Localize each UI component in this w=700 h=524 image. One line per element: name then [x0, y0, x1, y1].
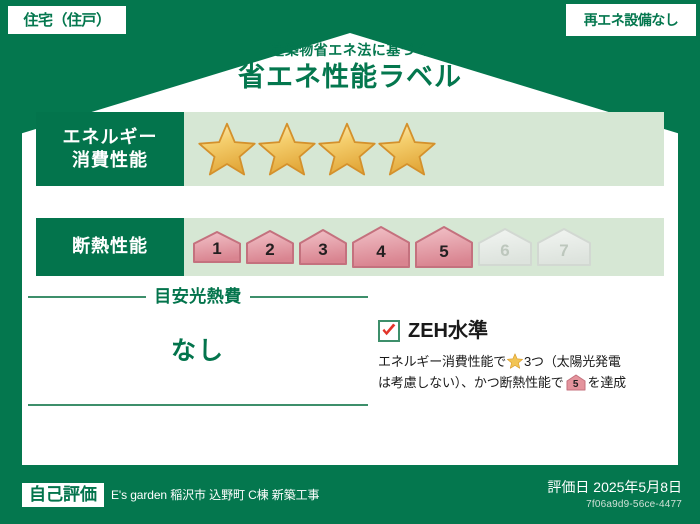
- building-name: E's garden 稲沢市 込野町 C棟 新築工事: [111, 489, 547, 501]
- zeh-desc-part1: エネルギー消費性能で: [378, 354, 506, 369]
- zeh-desc-star-count: 3つ（太陽光発電: [524, 354, 621, 369]
- zeh-title: ZEH水準: [408, 321, 488, 341]
- renewable-equipment-label: 再エネ設備なし: [584, 13, 679, 27]
- insulation-grade-value: 6: [477, 242, 533, 259]
- insulation-grade-badge: 5: [414, 225, 474, 269]
- footer-meta: 評価日 2025年5月8日 7f06a9d9-56ce-4477: [547, 479, 682, 511]
- insulation-grade-badge: 3: [298, 228, 348, 266]
- star-icon: [198, 121, 256, 177]
- zeh-heading-row: ZEH水準: [378, 320, 668, 342]
- inline-star-icon: [507, 353, 523, 369]
- self-evaluation-badge: 自己評価: [22, 483, 104, 507]
- insulation-grade-value: 1: [192, 240, 242, 257]
- header: 建築物省エネ法に基づく 省エネ性能ラベル: [0, 42, 700, 95]
- insulation-grade-scale: 1234567: [184, 218, 664, 276]
- inline-grade-value: 5: [566, 380, 586, 390]
- energy-performance-label: 住宅（住戸） 再エネ設備なし 建築物省エネ法に基づく 省エネ性能ラベル エネルギ…: [0, 0, 700, 524]
- insulation-grade-badge: 1: [192, 230, 242, 264]
- energy-consumption-label-line2: 消費性能: [72, 149, 148, 172]
- energy-consumption-label-line1: エネルギー: [63, 126, 158, 149]
- inline-grade-badge: 5: [566, 374, 586, 391]
- category-tag-label: 住宅（住戸）: [23, 13, 110, 28]
- header-subtitle: 建築物省エネ法に基づく: [0, 42, 700, 59]
- heading-rule-right: [250, 296, 368, 298]
- evaluation-date: 評価日 2025年5月8日: [547, 479, 682, 496]
- utility-cost-section: 目安光熱費 なし: [28, 288, 368, 406]
- zeh-checkbox[interactable]: [378, 320, 400, 342]
- utility-cost-value: なし: [28, 339, 368, 364]
- insulation-grade-value: 2: [245, 241, 295, 258]
- page-title: 省エネ性能ラベル: [0, 61, 700, 95]
- insulation-grade-badge: 6: [477, 227, 533, 267]
- insulation-performance-label: 断熱性能: [36, 218, 184, 276]
- energy-consumption-row: エネルギー 消費性能: [36, 112, 664, 186]
- insulation-grade-value: 5: [414, 243, 474, 260]
- energy-star-rating: [184, 112, 664, 186]
- insulation-performance-row: 断熱性能 1234567: [36, 218, 664, 276]
- evaluation-id: 7f06a9d9-56ce-4477: [547, 498, 682, 511]
- zeh-description: エネルギー消費性能で3つ（太陽光発電は考慮しない）、かつ断熱性能で5を達成: [378, 351, 668, 393]
- renewable-equipment-tag: 再エネ設備なし: [566, 4, 696, 36]
- check-icon: [380, 322, 398, 340]
- zeh-desc-part3: を達成: [588, 375, 626, 390]
- utility-cost-heading: 目安光熱費: [154, 288, 242, 305]
- insulation-grade-value: 4: [351, 243, 411, 260]
- star-icon: [378, 121, 436, 177]
- zeh-section: ZEH水準 エネルギー消費性能で3つ（太陽光発電は考慮しない）、かつ断熱性能で5…: [378, 320, 668, 393]
- insulation-grade-value: 7: [536, 242, 592, 259]
- footer: 自己評価 E's garden 稲沢市 込野町 C棟 新築工事 評価日 2025…: [0, 466, 700, 524]
- zeh-desc-part2: は考慮しない）、かつ断熱性能で: [378, 375, 564, 390]
- utility-cost-heading-row: 目安光熱費: [28, 288, 368, 305]
- insulation-performance-label-text: 断熱性能: [72, 235, 148, 258]
- star-icon: [318, 121, 376, 177]
- utility-cost-bottom-rule: [28, 404, 368, 406]
- insulation-grade-value: 3: [298, 241, 348, 258]
- insulation-grade-badge: 7: [536, 227, 592, 267]
- insulation-grade-badge: 2: [245, 229, 295, 265]
- category-tag: 住宅（住戸）: [6, 4, 128, 36]
- star-icon: [258, 121, 316, 177]
- heading-rule-left: [28, 296, 146, 298]
- energy-consumption-label: エネルギー 消費性能: [36, 112, 184, 186]
- insulation-grade-badge: 4: [351, 225, 411, 269]
